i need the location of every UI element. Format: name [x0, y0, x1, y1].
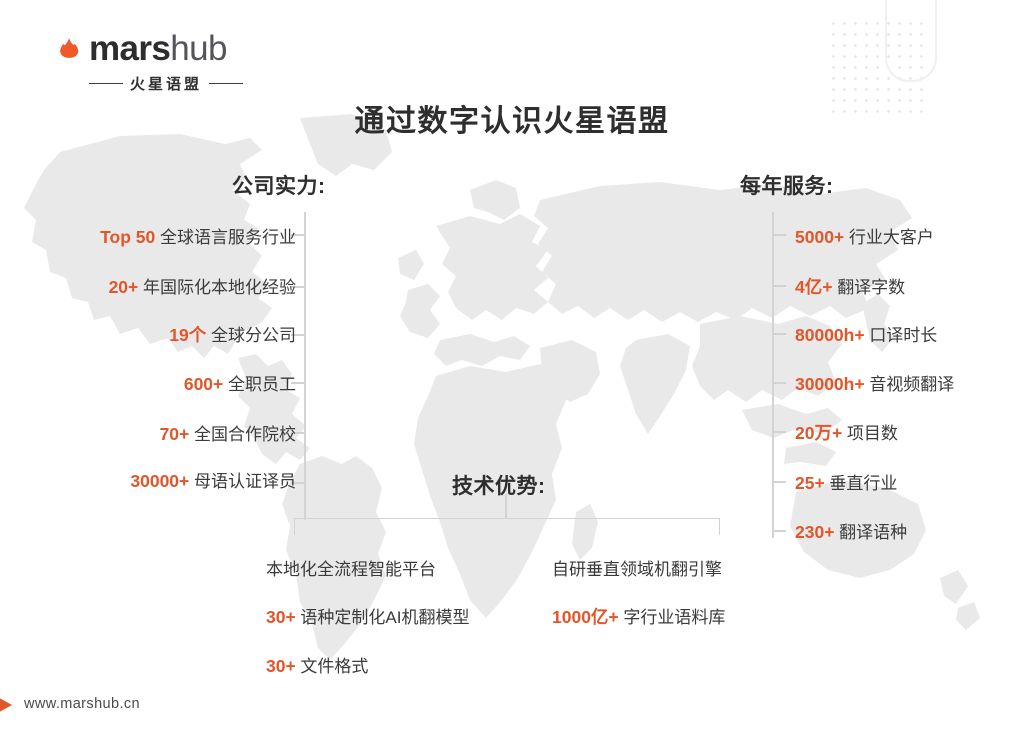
- stat-item: 4亿+ 翻译字数: [795, 276, 905, 299]
- stat-label: 行业大客户: [849, 228, 934, 247]
- stat-value: 30000h+: [795, 374, 865, 394]
- logo-word-light: hub: [170, 29, 227, 68]
- service-tick: [773, 481, 786, 483]
- tech-value: 30+: [266, 607, 296, 627]
- tech-value: 30+: [266, 656, 296, 676]
- stat-value: 20+: [109, 277, 139, 297]
- stat-item: 20+ 年国际化本地化经验: [109, 276, 296, 299]
- stat-label: 垂直行业: [829, 474, 897, 493]
- page-title: 通过数字认识火星语盟: [0, 96, 1024, 140]
- tech-value: 1000亿+: [552, 607, 619, 627]
- section-heading-service: 每年服务:: [740, 170, 834, 200]
- stat-item: 30000h+ 音视频翻译: [795, 373, 954, 396]
- stat-item: 19个 全球分公司: [169, 324, 296, 347]
- tech-item: 1000亿+ 字行业语料库: [552, 606, 725, 629]
- stat-item: Top 50 全球语言服务行业: [100, 226, 296, 249]
- stat-value: 80000h+: [795, 325, 865, 345]
- service-tick: [773, 431, 786, 433]
- tech-label: 本地化全流程智能平台: [266, 560, 436, 579]
- logo-rule-left: [89, 83, 123, 85]
- stat-item: 230+ 翻译语种: [795, 521, 907, 544]
- stat-value: 230+: [795, 522, 834, 542]
- stat-label: 翻译语种: [839, 523, 907, 542]
- stat-value: 19个: [169, 325, 206, 345]
- stat-item: 20万+ 项目数: [795, 422, 898, 445]
- logo-word-bold: mars: [89, 29, 170, 68]
- brand-logo[interactable]: marshub 火星语盟: [56, 30, 286, 92]
- stat-label: 翻译字数: [837, 278, 905, 297]
- stat-label: 项目数: [847, 424, 898, 443]
- tech-label: 自研垂直领域机翻引擎: [552, 560, 722, 579]
- flame-icon: [56, 36, 82, 62]
- service-axis-line: [772, 212, 774, 538]
- tech-item: 自研垂直领域机翻引擎: [552, 558, 722, 581]
- infographic-page: marshub 火星语盟 通过数字认识火星语盟 公司实力: Top 50 全球语…: [0, 0, 1024, 738]
- stat-label: 音视频翻译: [869, 375, 954, 394]
- play-arrow-icon: [0, 694, 12, 716]
- logo-rule-right: [209, 83, 243, 85]
- service-tick: [773, 530, 786, 532]
- service-tick: [773, 333, 786, 335]
- stat-item: 70+ 全国合作院校: [160, 423, 296, 446]
- stat-item: 30000+ 母语认证译员: [130, 470, 296, 493]
- stat-label: 年国际化本地化经验: [143, 278, 296, 297]
- service-tick: [773, 234, 786, 236]
- service-tick: [773, 382, 786, 384]
- tech-item: 本地化全流程智能平台: [266, 558, 436, 581]
- company-axis-line: [304, 212, 306, 520]
- stat-label: 全球分公司: [211, 326, 296, 345]
- logo-wordmark: marshub: [89, 31, 227, 67]
- stat-item: 600+ 全职员工: [184, 373, 296, 396]
- tech-item: 30+ 文件格式: [266, 655, 368, 678]
- section-heading-tech: 技术优势:: [452, 470, 546, 500]
- service-tick: [773, 285, 786, 287]
- stat-label: 口译时长: [869, 326, 937, 345]
- stat-value: 25+: [795, 473, 825, 493]
- stat-value: 600+: [184, 374, 223, 394]
- stat-value: 20万+: [795, 423, 842, 443]
- tech-item: 30+ 语种定制化AI机翻模型: [266, 606, 469, 629]
- stat-value: 30000+: [130, 471, 189, 491]
- stat-value: 4亿+: [795, 277, 832, 297]
- logo-wordmark-row: marshub: [56, 30, 286, 68]
- logo-tagline-row: 火星语盟: [62, 73, 270, 94]
- stat-label: 母语认证译员: [194, 472, 296, 491]
- tech-label: 字行业语料库: [623, 608, 725, 627]
- footer-website-url[interactable]: www.marshub.cn: [24, 696, 140, 712]
- stat-item: 25+ 垂直行业: [795, 472, 897, 495]
- tech-label: 文件格式: [300, 657, 368, 676]
- stat-value: 5000+: [795, 227, 844, 247]
- stat-item: 80000h+ 口译时长: [795, 324, 937, 347]
- stat-value: 70+: [160, 424, 190, 444]
- pill-outline-decoration: [885, 0, 937, 82]
- tech-bracket: [294, 518, 720, 535]
- stat-item: 5000+ 行业大客户: [795, 226, 934, 249]
- stat-value: Top 50: [100, 227, 155, 247]
- section-heading-company: 公司实力:: [232, 170, 326, 200]
- stat-label: 全球语言服务行业: [160, 228, 296, 247]
- stat-label: 全职员工: [228, 375, 296, 394]
- stat-label: 全国合作院校: [194, 425, 296, 444]
- logo-tagline-cn: 火星语盟: [123, 73, 209, 94]
- tech-label: 语种定制化AI机翻模型: [300, 608, 469, 627]
